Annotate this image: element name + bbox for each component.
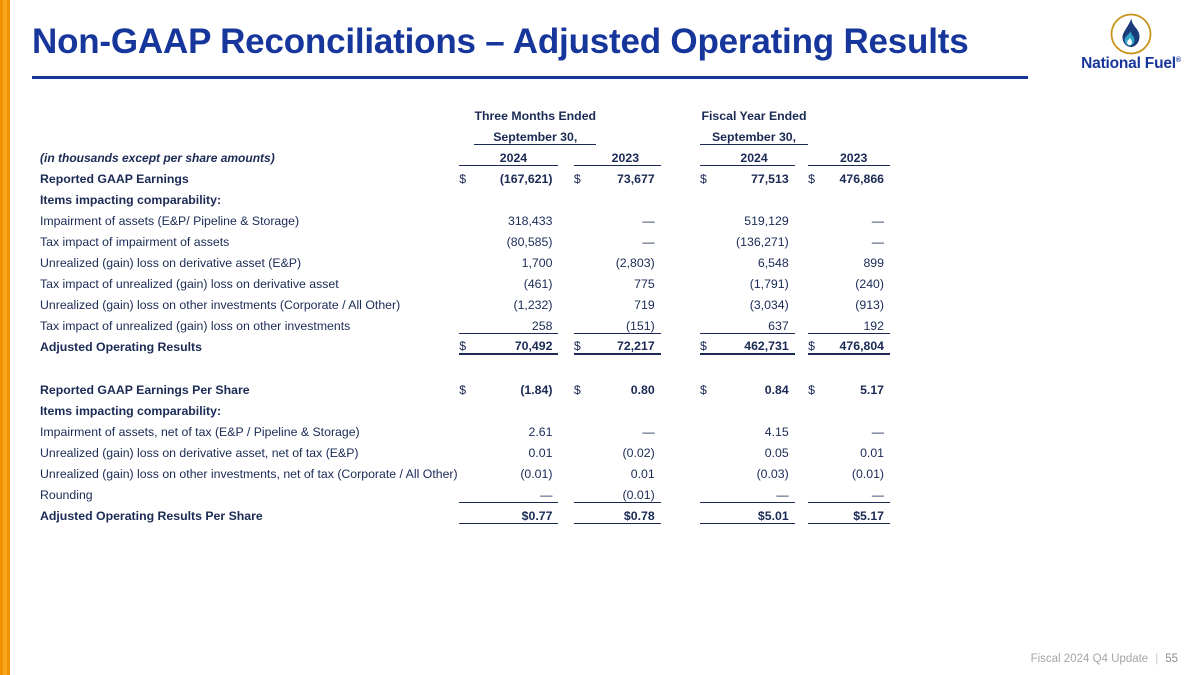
col-divider <box>558 228 573 249</box>
value-cell: 192 <box>823 312 890 333</box>
value-cell: 318,433 <box>474 207 558 228</box>
slide-footer: Fiscal 2024 Q4 Update|55 <box>1031 653 1178 665</box>
left-accent-bar <box>0 0 10 675</box>
col-divider <box>558 249 573 270</box>
national-fuel-flame-icon <box>1109 12 1153 56</box>
group-header-three-months: Three Months Ended <box>474 102 596 123</box>
currency-symbol-cell: $ <box>700 165 719 186</box>
value-cell <box>474 186 558 207</box>
table-row: Tax impact of impairment of assets(80,58… <box>40 228 890 249</box>
value-cell <box>719 186 794 207</box>
non-gaap-reconciliation-table: Three Months Ended Fiscal Year Ended Sep… <box>40 102 890 524</box>
value-cell: 775 <box>596 270 661 291</box>
empty-cell <box>459 123 474 144</box>
table-row: Unrealized (gain) loss on derivative ass… <box>40 249 890 270</box>
currency-symbol-cell <box>459 207 474 228</box>
left-accent-bar-highlight <box>3 0 7 675</box>
currency-symbol-cell <box>574 481 596 502</box>
value-cell: 476,866 <box>823 165 890 186</box>
table-row: Impairment of assets, net of tax (E&P / … <box>40 418 890 439</box>
currency-symbol-cell <box>808 207 823 228</box>
currency-symbol-cell <box>574 291 596 312</box>
row-label: Unrealized (gain) loss on other investme… <box>40 291 459 312</box>
col-divider <box>795 207 808 228</box>
value-cell: (0.01) <box>596 481 661 502</box>
table-row: Impairment of assets (E&P/ Pipeline & St… <box>40 207 890 228</box>
empty-cell <box>459 144 474 165</box>
currency-symbol-cell <box>574 207 596 228</box>
col-divider <box>795 228 808 249</box>
value-cell: 70,492 <box>474 333 558 354</box>
row-label: Items impacting comparability: <box>40 397 459 418</box>
currency-symbol-cell <box>459 439 474 460</box>
col-divider <box>558 439 573 460</box>
table-row: Adjusted Operating Results$70,492$72,217… <box>40 333 890 354</box>
table-row: Reported GAAP Earnings$(167,621)$73,677$… <box>40 165 890 186</box>
value-cell <box>596 186 661 207</box>
currency-symbol-cell <box>459 249 474 270</box>
value-cell <box>823 397 890 418</box>
title-underline-rule <box>32 76 1028 79</box>
registered-mark: ® <box>1176 57 1181 64</box>
currency-symbol-cell: $ <box>459 333 474 354</box>
spacer-cell <box>661 439 700 460</box>
value-cell: $0.78 <box>596 502 661 523</box>
page-number: 55 <box>1165 653 1178 665</box>
value-cell: (0.01) <box>823 460 890 481</box>
spacer-cell <box>661 228 700 249</box>
currency-symbol-cell <box>700 460 719 481</box>
row-label: Reported GAAP Earnings Per Share <box>40 376 459 397</box>
currency-symbol-cell <box>459 460 474 481</box>
value-cell: (0.03) <box>719 460 794 481</box>
value-cell: — <box>596 207 661 228</box>
table-group-header-row-1: Three Months Ended Fiscal Year Ended <box>40 102 890 123</box>
currency-symbol-cell <box>808 418 823 439</box>
currency-symbol-cell: $ <box>459 376 474 397</box>
value-cell: (167,621) <box>474 165 558 186</box>
currency-symbol-cell <box>574 502 596 523</box>
row-label: Rounding <box>40 481 459 502</box>
table-group-header-row-2: September 30, September 30, <box>40 123 890 144</box>
spacer-cell <box>661 460 700 481</box>
group-header-fiscal-year-date: September 30, <box>700 123 808 144</box>
row-label: Items impacting comparability: <box>40 186 459 207</box>
spacer-cell <box>596 123 661 144</box>
value-cell: — <box>596 418 661 439</box>
col-divider <box>795 481 808 502</box>
currency-symbol-cell: $ <box>459 165 474 186</box>
value-cell: $5.17 <box>823 502 890 523</box>
row-label: Unrealized (gain) loss on derivative ass… <box>40 249 459 270</box>
table-row: Unrealized (gain) loss on derivative ass… <box>40 439 890 460</box>
col-divider <box>795 397 808 418</box>
currency-symbol-cell <box>459 397 474 418</box>
footer-separator: | <box>1148 653 1165 665</box>
currency-symbol-cell <box>700 291 719 312</box>
table-row: Unrealized (gain) loss on other investme… <box>40 291 890 312</box>
value-cell: 476,804 <box>823 333 890 354</box>
currency-symbol-cell <box>700 397 719 418</box>
value-cell: (151) <box>596 312 661 333</box>
group-header-fiscal-year: Fiscal Year Ended <box>700 102 808 123</box>
spacer-cell <box>661 376 700 397</box>
col-divider <box>795 165 808 186</box>
spacer-cell <box>661 333 700 354</box>
table-row: Tax impact of unrealized (gain) loss on … <box>40 312 890 333</box>
row-label: Adjusted Operating Results <box>40 333 459 354</box>
value-cell: 77,513 <box>719 165 794 186</box>
col-divider <box>795 312 808 333</box>
currency-symbol-cell <box>808 439 823 460</box>
col-divider <box>558 333 573 354</box>
value-cell: 0.01 <box>823 439 890 460</box>
table-row: Tax impact of unrealized (gain) loss on … <box>40 270 890 291</box>
empty-cell <box>700 144 719 165</box>
value-cell: 462,731 <box>719 333 794 354</box>
currency-symbol-cell <box>574 439 596 460</box>
currency-symbol-cell <box>700 502 719 523</box>
currency-symbol-cell <box>700 207 719 228</box>
row-label: Tax impact of impairment of assets <box>40 228 459 249</box>
value-cell: 637 <box>719 312 794 333</box>
col-divider <box>795 291 808 312</box>
col-divider <box>795 460 808 481</box>
col-divider <box>558 460 573 481</box>
currency-symbol-cell <box>700 186 719 207</box>
logo-wordmark-text: National Fuel <box>1081 55 1176 72</box>
year-header-fy-2024: 2024 <box>719 144 794 165</box>
value-cell: — <box>823 481 890 502</box>
company-logo: National Fuel® <box>1070 12 1192 80</box>
currency-symbol-cell <box>459 481 474 502</box>
empty-cell <box>661 102 700 123</box>
currency-symbol-cell <box>459 418 474 439</box>
col-divider <box>558 418 573 439</box>
row-label: Reported GAAP Earnings <box>40 165 459 186</box>
currency-symbol-cell <box>459 291 474 312</box>
currency-symbol-cell <box>574 460 596 481</box>
currency-symbol-cell: $ <box>700 376 719 397</box>
col-divider <box>558 502 573 523</box>
value-cell: (1,791) <box>719 270 794 291</box>
currency-symbol-cell <box>700 439 719 460</box>
value-cell: 73,677 <box>596 165 661 186</box>
currency-symbol-cell <box>459 228 474 249</box>
value-cell: 6,548 <box>719 249 794 270</box>
logo-wordmark: National Fuel® <box>1070 55 1192 73</box>
page-title: Non-GAAP Reconciliations – Adjusted Oper… <box>32 22 969 62</box>
value-cell: $0.77 <box>474 502 558 523</box>
value-cell: — <box>596 228 661 249</box>
col-divider <box>795 418 808 439</box>
value-cell: 0.05 <box>719 439 794 460</box>
value-cell: 0.84 <box>719 376 794 397</box>
currency-symbol-cell: $ <box>574 333 596 354</box>
currency-symbol-cell <box>808 249 823 270</box>
spacer-cell <box>661 312 700 333</box>
col-divider <box>795 144 808 165</box>
col-divider <box>558 270 573 291</box>
value-cell: 719 <box>596 291 661 312</box>
value-cell: 4.15 <box>719 418 794 439</box>
currency-symbol-cell <box>459 270 474 291</box>
spacer-cell <box>661 418 700 439</box>
value-cell: 2.61 <box>474 418 558 439</box>
currency-symbol-cell <box>808 270 823 291</box>
currency-symbol-cell <box>808 397 823 418</box>
spacer-cell <box>661 207 700 228</box>
empty-cell <box>574 144 596 165</box>
col-divider <box>558 207 573 228</box>
empty-cell <box>40 102 459 123</box>
year-header-q4-2023: 2023 <box>596 144 661 165</box>
col-divider <box>795 186 808 207</box>
spacer-cell <box>661 144 700 165</box>
row-label-text-clipped: Unrealized (gain) loss on other investme… <box>40 467 458 481</box>
currency-symbol-cell <box>574 228 596 249</box>
currency-symbol-cell <box>574 418 596 439</box>
currency-symbol-cell <box>700 418 719 439</box>
value-cell <box>474 397 558 418</box>
spacer-cell <box>661 186 700 207</box>
currency-symbol-cell <box>808 481 823 502</box>
currency-symbol-cell <box>808 502 823 523</box>
value-cell: 519,129 <box>719 207 794 228</box>
col-divider <box>558 186 573 207</box>
value-cell: (136,271) <box>719 228 794 249</box>
col-divider <box>795 439 808 460</box>
row-label: Tax impact of unrealized (gain) loss on … <box>40 270 459 291</box>
table-row: Adjusted Operating Results Per Share$0.7… <box>40 502 890 523</box>
section-spacer-row <box>40 354 890 376</box>
value-cell: — <box>474 481 558 502</box>
value-cell: 1,700 <box>474 249 558 270</box>
col-divider <box>558 397 573 418</box>
value-cell: — <box>823 228 890 249</box>
empty-cell <box>40 354 890 376</box>
table-year-header-row: (in thousands except per share amounts) … <box>40 144 890 165</box>
value-cell: $5.01 <box>719 502 794 523</box>
row-label: Tax impact of unrealized (gain) loss on … <box>40 312 459 333</box>
value-cell: (3,034) <box>719 291 794 312</box>
spacer-cell <box>661 481 700 502</box>
currency-symbol-cell: $ <box>574 165 596 186</box>
spacer-cell <box>661 397 700 418</box>
value-cell <box>719 397 794 418</box>
table-row: Unrealized (gain) loss on other investme… <box>40 460 890 481</box>
value-cell: 0.01 <box>474 439 558 460</box>
currency-symbol-cell <box>700 481 719 502</box>
empty-cell <box>661 123 700 144</box>
value-cell: 5.17 <box>823 376 890 397</box>
currency-symbol-cell: $ <box>808 333 823 354</box>
currency-symbol-cell <box>808 291 823 312</box>
col-divider <box>795 333 808 354</box>
value-cell: — <box>719 481 794 502</box>
year-header-fy-2023: 2023 <box>823 144 890 165</box>
value-cell: 0.80 <box>596 376 661 397</box>
value-cell: (240) <box>823 270 890 291</box>
currency-symbol-cell <box>808 228 823 249</box>
spacer-cell <box>661 291 700 312</box>
spacer-cell <box>661 270 700 291</box>
row-label: Unrealized (gain) loss on derivative ass… <box>40 439 459 460</box>
currency-symbol-cell <box>700 249 719 270</box>
currency-symbol-cell <box>459 502 474 523</box>
col-divider <box>558 165 573 186</box>
empty-cell <box>808 144 823 165</box>
currency-symbol-cell: $ <box>700 333 719 354</box>
currency-symbol-cell: $ <box>808 165 823 186</box>
col-divider <box>795 376 808 397</box>
group-header-three-months-date: September 30, <box>474 123 596 144</box>
currency-symbol-cell <box>574 186 596 207</box>
value-cell: — <box>823 418 890 439</box>
currency-symbol-cell: $ <box>574 376 596 397</box>
currency-symbol-cell <box>808 460 823 481</box>
value-cell: 899 <box>823 249 890 270</box>
col-divider <box>558 481 573 502</box>
table-row: Rounding—(0.01)—— <box>40 481 890 502</box>
currency-symbol-cell <box>574 249 596 270</box>
col-divider <box>795 502 808 523</box>
spacer-cell <box>661 165 700 186</box>
value-cell: 258 <box>474 312 558 333</box>
col-divider <box>558 312 573 333</box>
value-cell <box>823 186 890 207</box>
row-label: Impairment of assets, net of tax (E&P / … <box>40 418 459 439</box>
value-cell: 0.01 <box>596 460 661 481</box>
currency-symbol-cell: $ <box>808 376 823 397</box>
value-cell: (461) <box>474 270 558 291</box>
col-divider <box>795 249 808 270</box>
footer-deck-name: Fiscal 2024 Q4 Update <box>1031 653 1149 665</box>
value-cell <box>596 397 661 418</box>
currency-symbol-cell <box>700 228 719 249</box>
spacer-cell <box>661 502 700 523</box>
table-row: Items impacting comparability: <box>40 186 890 207</box>
empty-cell <box>40 123 459 144</box>
currency-symbol-cell <box>459 312 474 333</box>
col-divider <box>558 376 573 397</box>
units-note: (in thousands except per share amounts) <box>40 144 459 165</box>
currency-symbol-cell <box>700 270 719 291</box>
value-cell: (2,803) <box>596 249 661 270</box>
value-cell: (0.02) <box>596 439 661 460</box>
currency-symbol-cell <box>574 270 596 291</box>
row-label: Unrealized (gain) loss on other investme… <box>40 460 459 481</box>
currency-symbol-cell <box>808 312 823 333</box>
currency-symbol-cell <box>574 312 596 333</box>
spacer-cell <box>661 249 700 270</box>
year-header-q4-2024: 2024 <box>474 144 558 165</box>
value-cell: — <box>823 207 890 228</box>
row-label: Impairment of assets (E&P/ Pipeline & St… <box>40 207 459 228</box>
col-divider <box>795 270 808 291</box>
value-cell: (913) <box>823 291 890 312</box>
col-divider <box>558 144 573 165</box>
col-divider <box>558 291 573 312</box>
table-row: Reported GAAP Earnings Per Share$(1.84)$… <box>40 376 890 397</box>
table-row: Items impacting comparability: <box>40 397 890 418</box>
currency-symbol-cell <box>808 186 823 207</box>
value-cell: 72,217 <box>596 333 661 354</box>
empty-cell <box>459 102 474 123</box>
spacer-cell <box>596 102 661 123</box>
currency-symbol-cell <box>574 397 596 418</box>
value-cell: (80,585) <box>474 228 558 249</box>
value-cell: (1,232) <box>474 291 558 312</box>
currency-symbol-cell <box>700 312 719 333</box>
row-label: Adjusted Operating Results Per Share <box>40 502 459 523</box>
value-cell: (1.84) <box>474 376 558 397</box>
currency-symbol-cell <box>459 186 474 207</box>
value-cell: (0.01) <box>474 460 558 481</box>
